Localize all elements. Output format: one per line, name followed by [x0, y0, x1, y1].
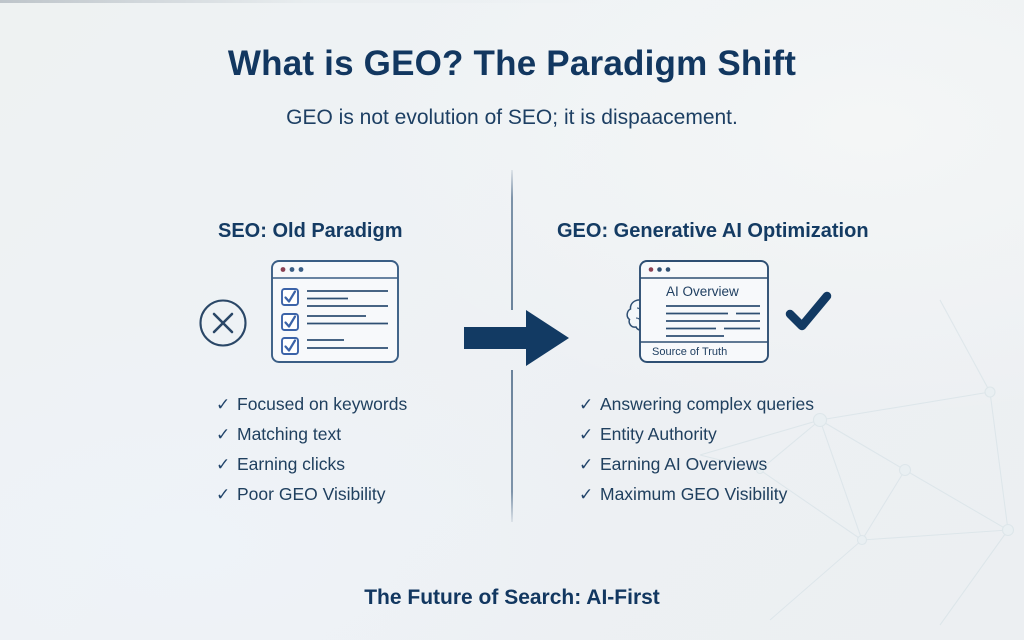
check-icon: ✓	[579, 426, 600, 443]
check-icon: ✓	[216, 426, 237, 443]
slide-subtitle: GEO is not evolution of SEO; it is dispa…	[0, 106, 1024, 130]
right-arrow-icon	[464, 310, 569, 366]
list-item-label: Maximum GEO Visibility	[600, 486, 787, 504]
geo-illustration: AI Overview Source of Truth	[620, 256, 835, 368]
check-icon: ✓	[579, 396, 600, 413]
list-item-label: Matching text	[237, 426, 341, 444]
column-heading-seo: SEO: Old Paradigm	[218, 220, 402, 243]
slide-title: What is GEO? The Paradigm Shift	[0, 44, 1024, 84]
ai-overview-label: AI Overview	[666, 284, 739, 299]
list-item-label: Earning AI Overviews	[600, 456, 767, 474]
top-edge-band	[0, 0, 1024, 3]
vertical-divider-bottom	[511, 370, 513, 522]
checkmark-icon	[790, 296, 827, 326]
column-heading-geo: GEO: Generative AI Optimization	[557, 220, 869, 243]
seo-illustration	[196, 256, 406, 368]
list-item-label: Earning clicks	[237, 456, 345, 474]
window-dots	[281, 267, 304, 272]
check-icon: ✓	[579, 486, 600, 503]
list-item: ✓ Focused on keywords	[216, 396, 407, 414]
geo-bullet-list: ✓ Answering complex queries ✓ Entity Aut…	[579, 396, 814, 516]
check-icon: ✓	[216, 396, 237, 413]
list-item-label: Poor GEO Visibility	[237, 486, 385, 504]
window-dots	[649, 267, 671, 272]
vertical-divider-top	[511, 170, 513, 310]
check-icon: ✓	[216, 486, 237, 503]
list-item: ✓ Earning AI Overviews	[579, 456, 814, 474]
list-item: ✓ Maximum GEO Visibility	[579, 486, 814, 504]
slide-footer: The Future of Search: AI-First	[0, 586, 1024, 610]
list-item-label: Entity Authority	[600, 426, 717, 444]
source-of-truth-label: Source of Truth	[652, 346, 727, 358]
slide-canvas: What is GEO? The Paradigm Shift GEO is n…	[0, 0, 1024, 640]
list-item: ✓ Matching text	[216, 426, 407, 444]
check-icon: ✓	[216, 456, 237, 473]
list-item-label: Answering complex queries	[600, 396, 814, 414]
circle-x-icon	[201, 301, 246, 346]
check-icon: ✓	[579, 456, 600, 473]
list-item: ✓ Entity Authority	[579, 426, 814, 444]
seo-bullet-list: ✓ Focused on keywords ✓ Matching text ✓ …	[216, 396, 407, 516]
browser-checklist-window	[272, 261, 398, 362]
ai-overview-window: AI Overview Source of Truth	[640, 261, 768, 362]
list-item: ✓ Earning clicks	[216, 456, 407, 474]
list-item: ✓ Poor GEO Visibility	[216, 486, 407, 504]
list-item-label: Focused on keywords	[237, 396, 407, 414]
list-item: ✓ Answering complex queries	[579, 396, 814, 414]
